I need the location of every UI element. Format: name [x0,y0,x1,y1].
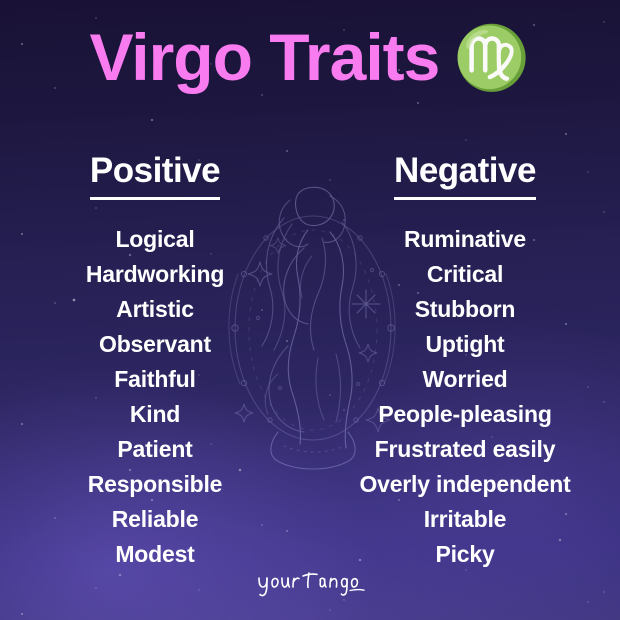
list-item: Hardworking [0,257,310,292]
list-item: Modest [0,537,310,572]
positive-heading: Positive [90,152,220,200]
list-item: Critical [310,257,620,292]
list-item: Faithful [0,362,310,397]
list-item: Observant [0,327,310,362]
list-item: Reliable [0,502,310,537]
negative-traits-column: Negative Ruminative Critical Stubborn Up… [310,152,620,572]
list-item: Artistic [0,292,310,327]
list-item: Picky [310,537,620,572]
positive-traits-column: Positive Logical Hardworking Artistic Ob… [0,152,310,572]
list-item: Ruminative [310,222,620,257]
page-title: Virgo Traits ♍ [0,24,620,90]
list-item: Frustrated easily [310,432,620,467]
virgo-traits-poster: Virgo Traits ♍ Positive Logical Hardwork… [0,0,620,620]
list-item: Responsible [0,467,310,502]
negative-traits-list: Ruminative Critical Stubborn Uptight Wor… [310,222,620,572]
list-item: Kind [0,397,310,432]
traits-columns: Positive Logical Hardworking Artistic Ob… [0,152,620,572]
list-item: Worried [310,362,620,397]
list-item: People-pleasing [310,397,620,432]
negative-heading: Negative [394,152,536,200]
list-item: Uptight [310,327,620,362]
yourtango-logo: YourTango [0,568,620,598]
list-item: Stubborn [310,292,620,327]
positive-traits-list: Logical Hardworking Artistic Observant F… [0,222,310,572]
list-item: Patient [0,432,310,467]
list-item: Overly independent [310,467,620,502]
list-item: Logical [0,222,310,257]
title-text: Virgo Traits [89,24,439,90]
list-item: Irritable [310,502,620,537]
virgo-symbol-icon: ♍ [453,28,530,90]
